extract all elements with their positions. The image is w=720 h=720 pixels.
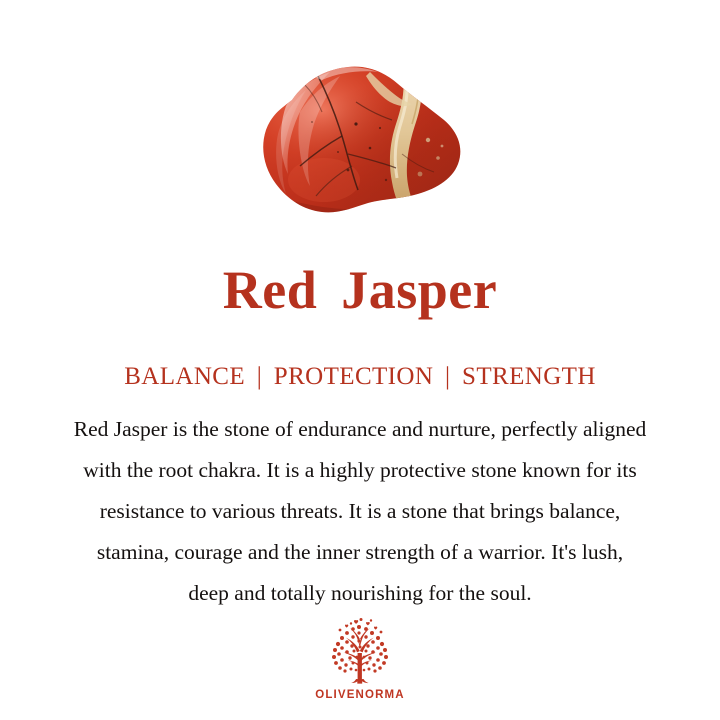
- brand-logo: OLIVENORMA: [0, 617, 720, 701]
- stone-image-container: [0, 52, 720, 232]
- keyword-strength: STRENGTH: [462, 363, 596, 390]
- keyword-line: BALANCE | PROTECTION | STRENGTH: [0, 362, 720, 392]
- keyword-protection: PROTECTION: [274, 363, 434, 390]
- page-title: Red Jasper: [0, 261, 720, 319]
- description-line: resistance to various threats. It is a s…: [8, 491, 712, 532]
- red-jasper-info-card: Red Jasper BALANCE | PROTECTION | STRENG…: [0, 0, 720, 720]
- description-line: with the root chakra. It is a highly pro…: [8, 450, 712, 491]
- keyword-balance: BALANCE: [124, 363, 245, 390]
- description-paragraph: Red Jasper is the stone of endurance and…: [8, 409, 712, 614]
- tree-of-life-icon: [323, 617, 397, 687]
- keyword-separator: |: [252, 362, 267, 392]
- description-line: deep and totally nourishing for the soul…: [8, 573, 712, 614]
- description-line: stamina, courage and the inner strength …: [8, 532, 712, 573]
- keyword-separator: |: [440, 362, 455, 392]
- red-jasper-tumbled-stone: [252, 62, 468, 222]
- brand-wordmark: OLIVENORMA: [315, 689, 404, 701]
- description-line: Red Jasper is the stone of endurance and…: [8, 409, 712, 450]
